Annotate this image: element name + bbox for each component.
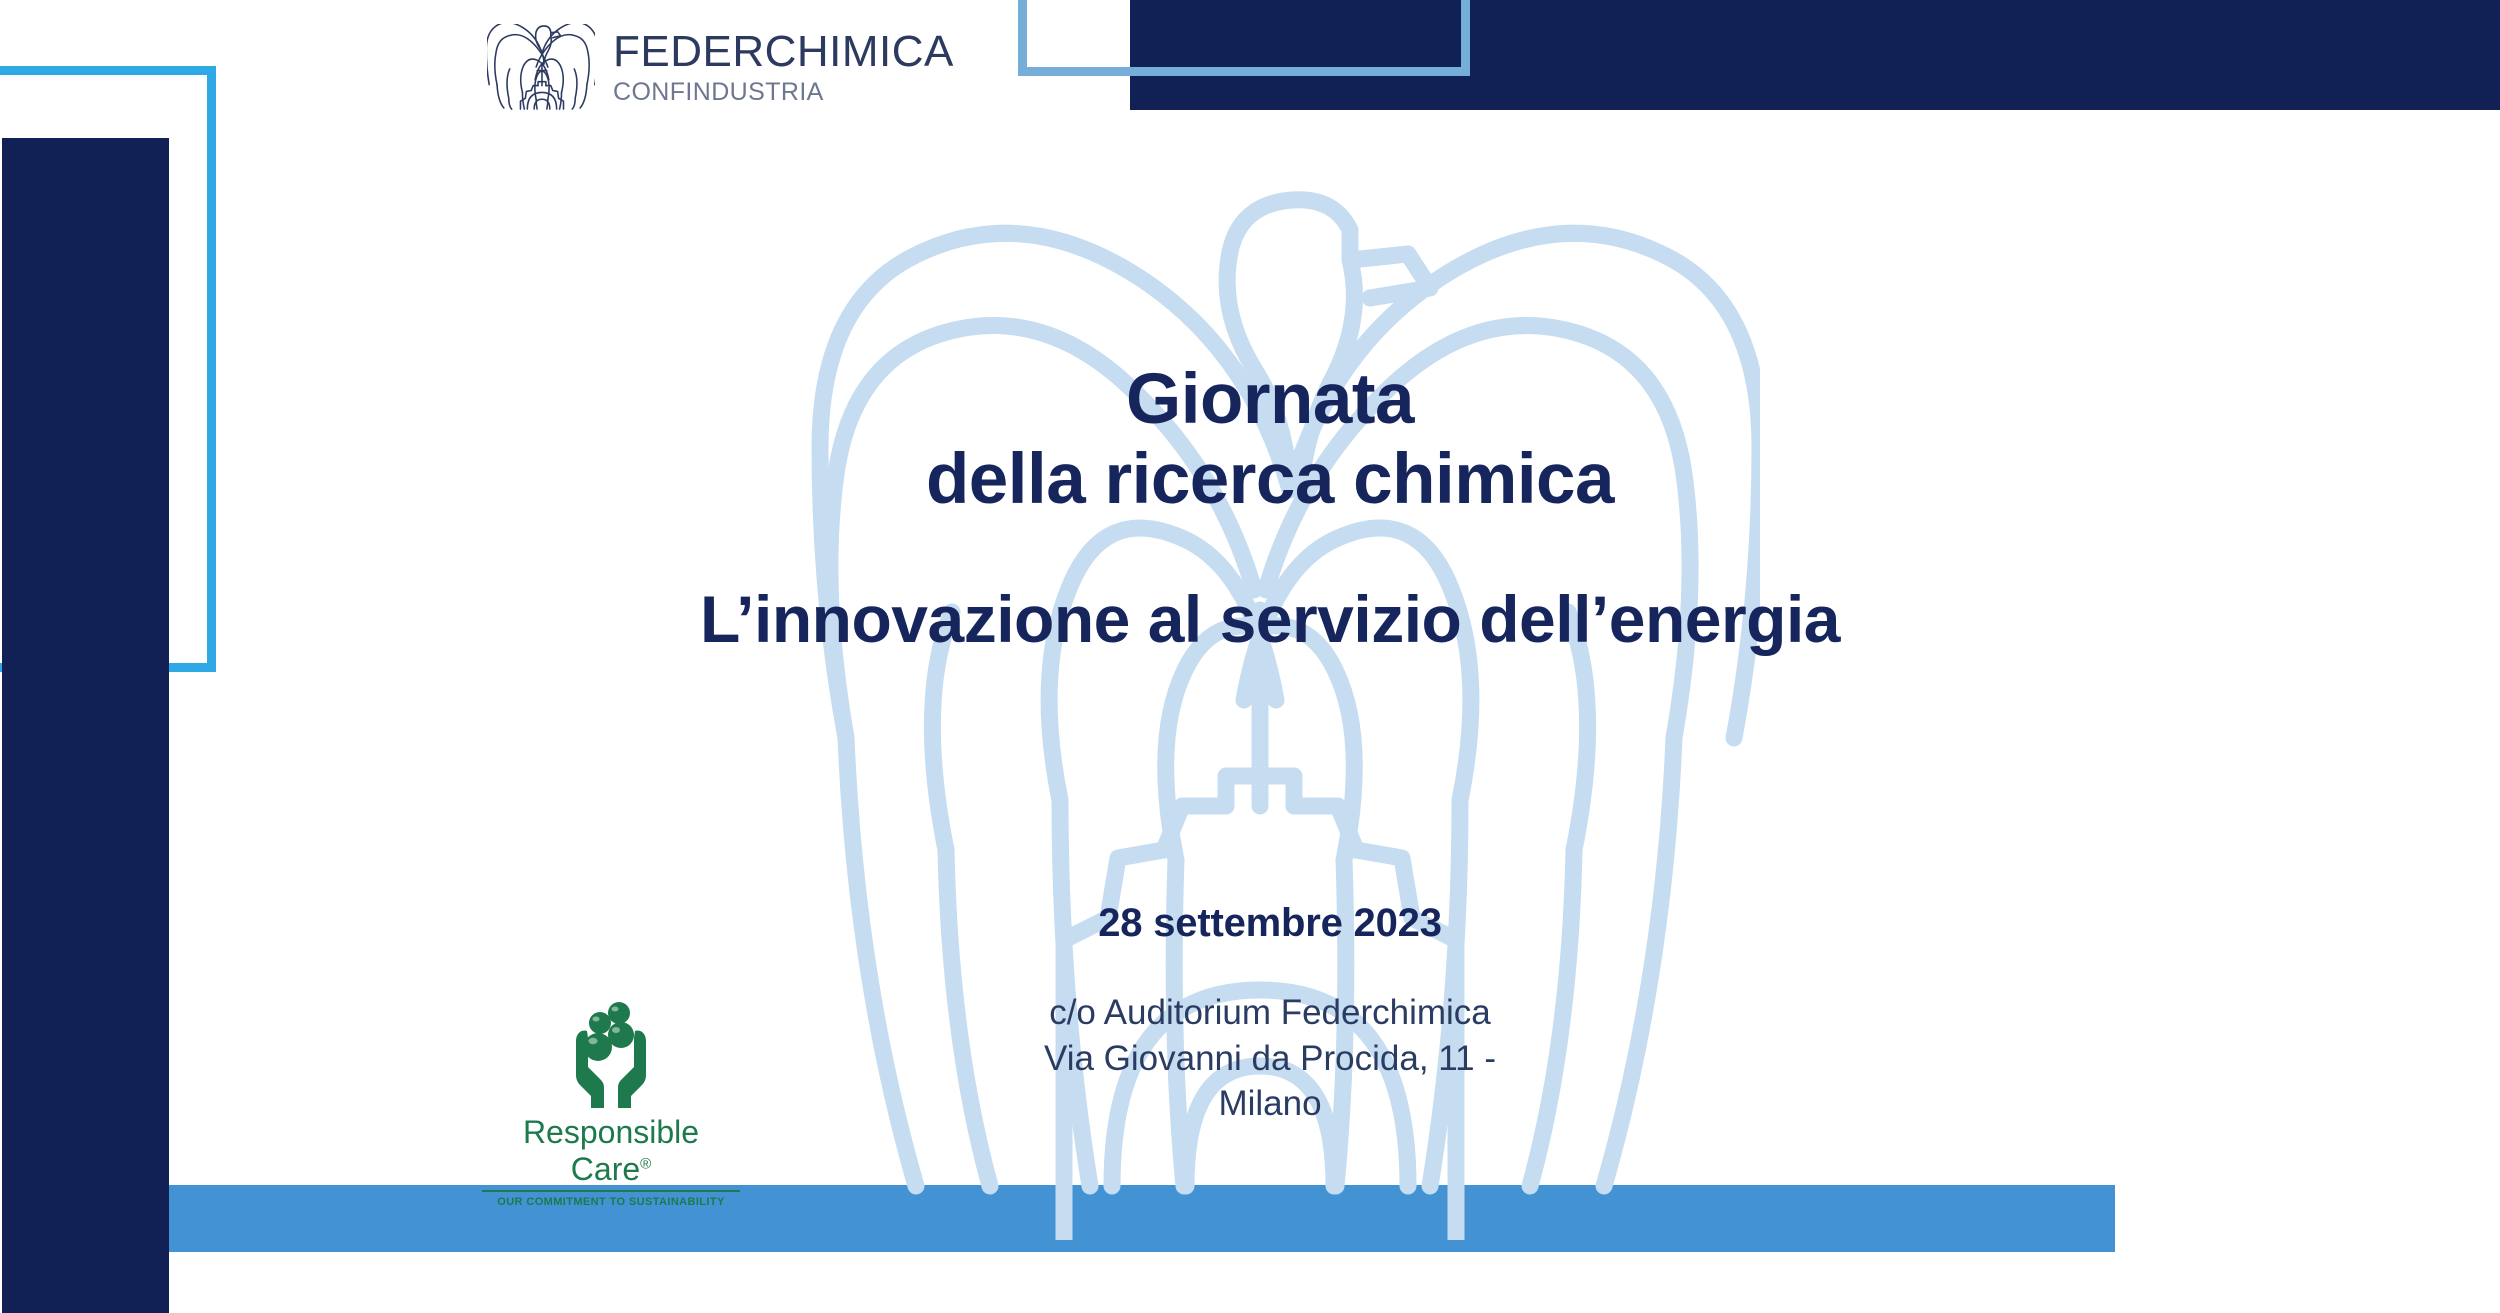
title-line-2: della ricerca chimica — [926, 440, 1614, 519]
presentation-slide: FEDERCHIMICA CONFINDUSTRIA Giornata dell… — [0, 0, 2500, 1313]
page-subtitle: L’innovazione al servizio dell’energia — [560, 582, 1980, 658]
responsible-care-label: Responsible Care — [523, 1114, 699, 1187]
event-venue: c/o Auditorium Federchimica Via Giovanni… — [560, 990, 1980, 1127]
event-date: 28 settembre 2023 — [560, 901, 1980, 946]
responsible-care-tagline: OUR COMMITMENT TO SUSTAINABILITY — [482, 1196, 740, 1208]
bottom-blue-bar — [169, 1185, 2115, 1252]
registered-trademark-icon: ® — [640, 1155, 651, 1172]
venue-line-2: Via Giovanni da Procida, 11 - — [1044, 1039, 1496, 1078]
brand-name: FEDERCHIMICA — [613, 30, 954, 74]
responsible-care-logo: Responsible Care® OUR COMMITMENT TO SUST… — [482, 1000, 740, 1208]
left-navy-bar — [2, 138, 169, 1313]
brand-subtitle: CONFINDUSTRIA — [613, 80, 954, 105]
eagle-emblem-icon — [487, 24, 595, 110]
page-title: Giornata della ricerca chimica — [560, 360, 1980, 520]
title-line-1: Giornata — [1126, 360, 1414, 439]
responsible-care-name: Responsible Care® — [482, 1114, 740, 1192]
top-right-blue-outline-rectangle — [1018, 0, 1470, 76]
hands-holding-molecules-icon — [551, 1000, 671, 1112]
venue-line-3: Milano — [1218, 1084, 1321, 1123]
federchimica-logo: FEDERCHIMICA CONFINDUSTRIA — [487, 24, 954, 110]
venue-line-1: c/o Auditorium Federchimica — [1049, 993, 1491, 1032]
slide-content: Giornata della ricerca chimica L’innovaz… — [560, 360, 1980, 1127]
